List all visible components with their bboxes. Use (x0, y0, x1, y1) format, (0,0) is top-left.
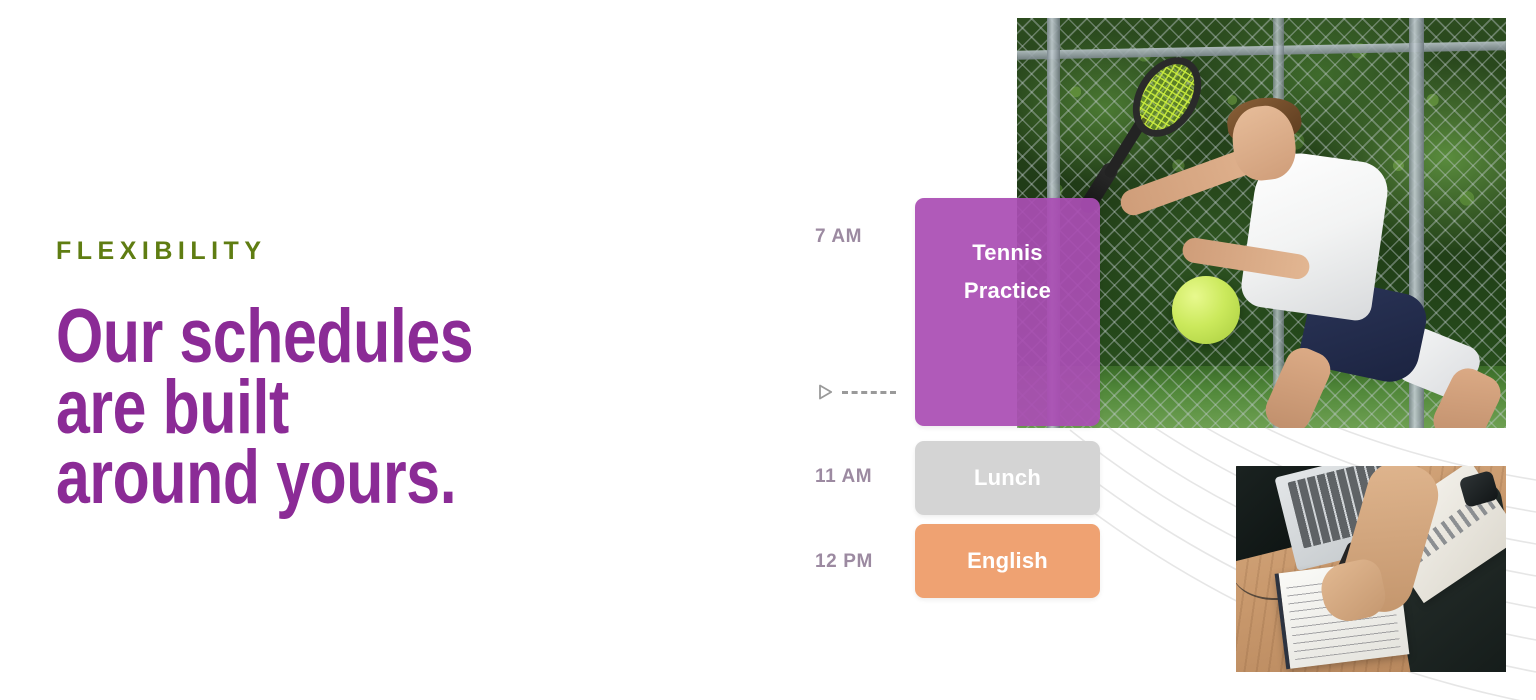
play-triangle-icon (818, 384, 833, 400)
page-title: Our schedules are built around yours. (56, 302, 552, 514)
dashed-time-line (842, 391, 896, 394)
daily-schedule-widget: 7 AM 11 AM 12 PM Tennis Practice Lunch E… (815, 190, 1105, 610)
time-label-12pm: 12 PM (815, 551, 873, 573)
hero-copy-block: FLEXIBILITY Our schedules are built arou… (56, 236, 676, 514)
event-card-lunch[interactable]: Lunch (915, 441, 1100, 515)
time-label-7am: 7 AM (815, 226, 862, 248)
current-time-marker[interactable] (818, 384, 896, 400)
event-card-english[interactable]: English (915, 524, 1100, 598)
flexibility-hero-section: FLEXIBILITY Our schedules are built arou… (0, 0, 1536, 700)
event-card-tennis-practice[interactable]: Tennis Practice (915, 198, 1100, 426)
time-label-11am: 11 AM (815, 466, 872, 488)
tennis-ball (1172, 276, 1240, 344)
study-desk-photo (1236, 466, 1506, 672)
eyebrow-label: FLEXIBILITY (56, 236, 676, 266)
